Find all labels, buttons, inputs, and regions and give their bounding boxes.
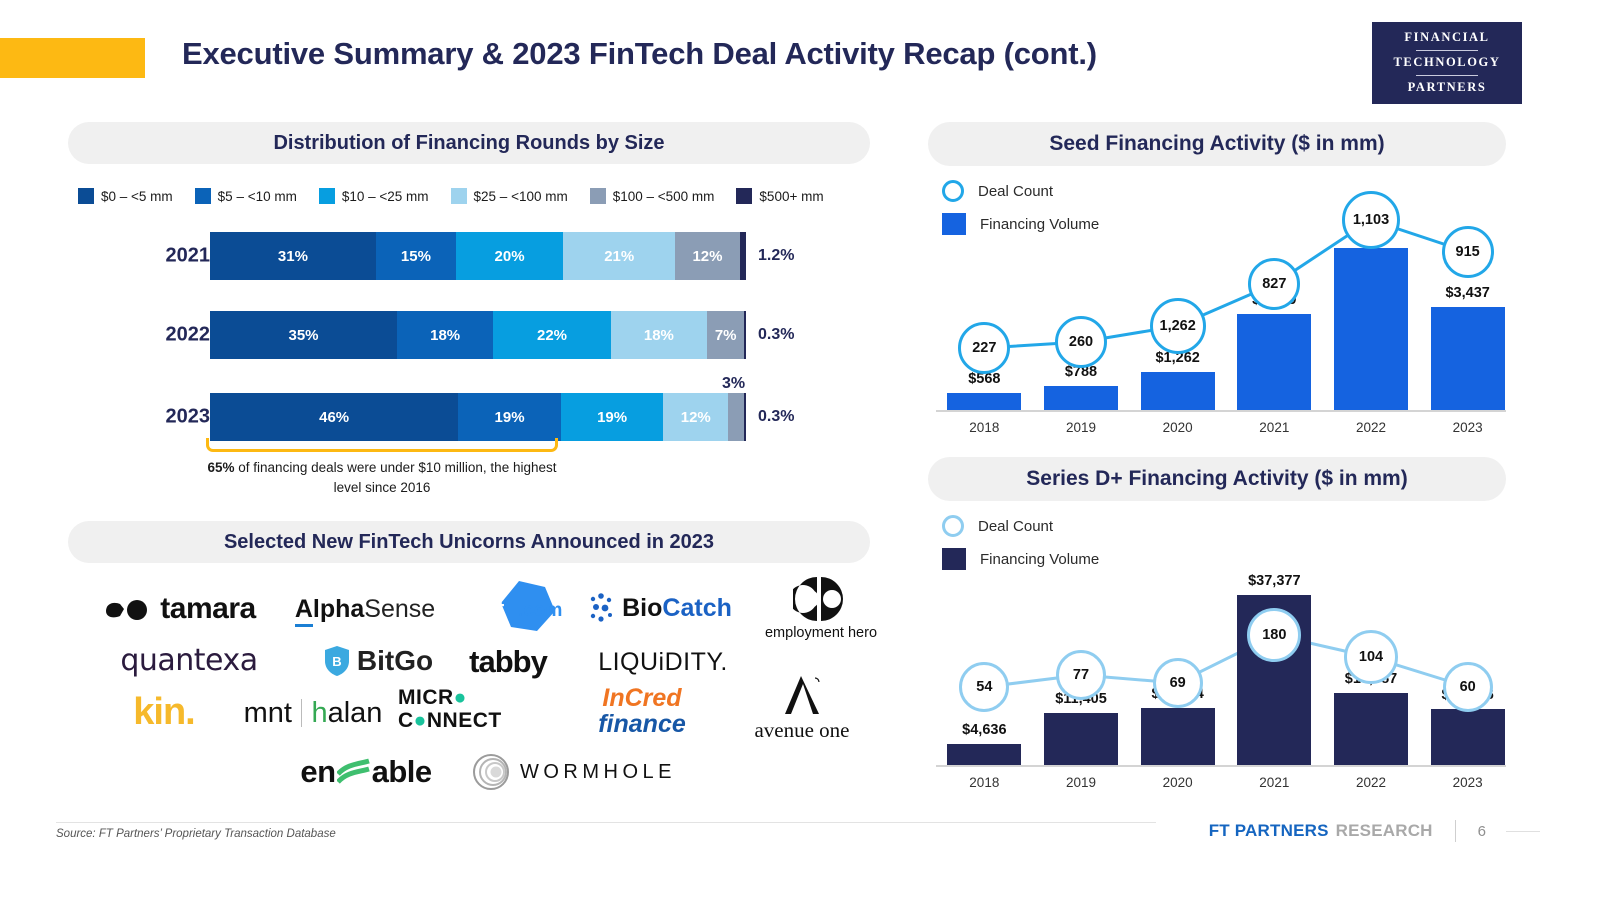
ft-partners-logo: FINANCIAL TECHNOLOGY PARTNERS xyxy=(1372,22,1522,104)
logo-tamara: tamara xyxy=(90,586,270,632)
deal-count-bubble: 77 xyxy=(1056,650,1106,700)
panel-header-seriesd: Series D+ Financing Activity ($ in mm) xyxy=(928,457,1506,501)
logo-halan-h: h xyxy=(311,697,327,730)
bar-row-year: 2021 xyxy=(148,245,210,268)
logo-micro-line2: C●NNECT xyxy=(398,710,502,733)
deal-count-bubble: 827 xyxy=(1248,258,1300,310)
logo-kin-label: kin. xyxy=(133,691,194,734)
bar-segment: 18% xyxy=(397,311,493,359)
source-note: Source: FT Partners’ Proprietary Transac… xyxy=(56,828,336,840)
seed-financing-chart: Deal CountFinancing Volume$5682018$78820… xyxy=(928,172,1518,442)
logo-line-3: PARTNERS xyxy=(1408,78,1487,97)
logo-biocatch-bio: Bio xyxy=(622,594,662,623)
tamara-mark-icon xyxy=(104,597,152,621)
bar-segment xyxy=(744,393,746,441)
bar-stack: 35%18%22%18%7% xyxy=(210,311,746,359)
chart-bar xyxy=(947,393,1021,410)
chart-bar xyxy=(1334,693,1408,765)
chart-bar xyxy=(1431,709,1505,765)
bar-segment-callout-label: 3% xyxy=(722,375,745,393)
logo-biocatch-catch: Catch xyxy=(662,594,731,623)
legend-label: $5 – <10 mm xyxy=(218,189,297,204)
svg-text:B: B xyxy=(332,654,341,669)
bar-segment: 22% xyxy=(493,311,611,359)
legend-item-4: $100 – <500 mm xyxy=(590,188,715,204)
legend-item-2: $10 – <25 mm xyxy=(319,188,429,204)
legend-item-3: $25 – <100 mm xyxy=(451,188,568,204)
x-axis-tick-label: 2022 xyxy=(1323,420,1420,435)
logo-enable-able: able xyxy=(372,754,432,790)
logo-wormhole: WORMHOLE xyxy=(464,750,684,794)
title-accent-block xyxy=(0,38,145,78)
logo-kin: kin. xyxy=(104,686,224,738)
bar-segment: 20% xyxy=(456,232,563,280)
chart-bar xyxy=(1431,307,1505,410)
logo-micro-line1: MICR● xyxy=(398,687,467,710)
x-axis-tick-label: 2020 xyxy=(1129,420,1226,435)
deal-count-bubble: 1,262 xyxy=(1150,298,1206,354)
logo-tabby-label: tabby xyxy=(469,644,547,680)
footer-dash xyxy=(1506,831,1540,832)
panel-header-unicorns: Selected New FinTech Unicorns Announced … xyxy=(68,521,870,563)
bar-value-label: $4,636 xyxy=(919,722,1049,738)
panel-header-distribution: Distribution of Financing Rounds by Size xyxy=(68,122,870,164)
footer-branding: FT PARTNERS RESEARCH 6 xyxy=(1209,820,1540,842)
x-axis-tick-label: 2023 xyxy=(1419,775,1516,790)
logo-avenue-one-label: avenue one xyxy=(754,718,849,743)
avenue-one-mark-icon xyxy=(781,674,823,716)
logo-enable: en able xyxy=(276,750,456,794)
x-axis-tick-label: 2019 xyxy=(1033,775,1130,790)
slide: Executive Summary & 2023 FinTech Deal Ac… xyxy=(0,0,1600,900)
logo-divider-1 xyxy=(1416,50,1478,52)
x-axis-tick-label: 2022 xyxy=(1323,775,1420,790)
biocatch-dots-icon xyxy=(588,593,618,623)
bitgo-shield-icon: B xyxy=(323,645,351,677)
chart-bar xyxy=(1237,314,1311,410)
legend-label: $10 – <25 mm xyxy=(342,189,429,204)
logo-incred-word: InCred xyxy=(602,685,681,711)
x-axis-tick-label: 2018 xyxy=(936,420,1033,435)
deal-count-bubble: 260 xyxy=(1055,316,1107,368)
logo-cart-word: cart xyxy=(464,596,504,622)
logo-quantexa-label: quantexa xyxy=(120,643,257,678)
logo-tabby: tabby xyxy=(448,640,568,684)
employment-hero-mark-icon xyxy=(793,577,849,621)
legend-label: $0 – <5 mm xyxy=(101,189,173,204)
logo-enable-en: en xyxy=(300,754,335,790)
bar-segment: 7% xyxy=(707,311,744,359)
bar-stack: 46%19%19%12% xyxy=(210,393,746,441)
bar-segment: 15% xyxy=(376,232,456,280)
bar-segment xyxy=(744,311,746,359)
x-axis-tick-label: 2020 xyxy=(1129,775,1226,790)
logo-alphasense-label: AlphaSense xyxy=(295,595,435,624)
deal-count-bubble: 1,103 xyxy=(1342,191,1400,249)
legend-swatch-icon xyxy=(736,188,752,204)
logo-incred-finance: InCred finance xyxy=(572,680,712,742)
bar-segment xyxy=(740,232,746,280)
logo-finance-word: finance xyxy=(598,711,686,737)
bar-segment: 19% xyxy=(561,393,664,441)
x-axis-tick-label: 2018 xyxy=(936,775,1033,790)
x-axis-tick-label: 2023 xyxy=(1419,420,1516,435)
panel-header-seed: Seed Financing Activity ($ in mm) xyxy=(928,122,1506,166)
legend-swatch-icon xyxy=(451,188,467,204)
bar-segment: 35% xyxy=(210,311,397,359)
legend-label: $500+ mm xyxy=(759,189,823,204)
bar-row-year: 2022 xyxy=(148,324,210,347)
logo-halan-rest: alan xyxy=(328,697,383,730)
logo-bitgo-label: BitGo xyxy=(357,645,433,677)
footer-separator xyxy=(1455,820,1456,842)
legend-swatch-icon xyxy=(195,188,211,204)
deal-count-bubble: 60 xyxy=(1443,662,1493,712)
bar-total-label: 0.3% xyxy=(758,326,794,344)
logo-avenue-one: avenue one xyxy=(712,670,892,746)
x-axis-tick-label: 2021 xyxy=(1226,775,1323,790)
logo-employment-hero: employment hero xyxy=(742,572,900,646)
deal-count-bubble: 915 xyxy=(1442,226,1494,278)
bar-stack: 31%15%20%21%12% xyxy=(210,232,746,280)
footer-brand: FT PARTNERS xyxy=(1209,821,1329,841)
bar-segment: 12% xyxy=(663,393,728,441)
logo-cart-tld: .com xyxy=(518,600,562,622)
legend-item-1: $5 – <10 mm xyxy=(195,188,297,204)
logo-mnt-halan-divider xyxy=(301,699,303,727)
legend-swatch-icon xyxy=(590,188,606,204)
chart-bar xyxy=(1334,248,1408,410)
annotation-bold: 65% xyxy=(208,460,235,475)
chart-bar xyxy=(1044,386,1118,410)
page-title: Executive Summary & 2023 FinTech Deal Ac… xyxy=(182,36,1312,72)
deal-count-bubble: 227 xyxy=(958,322,1010,374)
legend-label: $100 – <500 mm xyxy=(613,189,715,204)
logo-biocatch: BioCatch xyxy=(570,586,750,630)
chart-bar xyxy=(947,744,1021,765)
bar-segment: 18% xyxy=(611,311,707,359)
chart-bar xyxy=(1044,713,1118,765)
deal-count-bubble: 104 xyxy=(1344,630,1398,684)
page-number: 6 xyxy=(1478,823,1486,840)
chart-bar xyxy=(1141,372,1215,410)
logo-bitgo: B BitGo xyxy=(298,640,458,682)
enable-swoosh-icon xyxy=(337,758,371,786)
deal-count-bubble: 69 xyxy=(1153,658,1203,708)
unicorn-logo-grid: tamara AlphaSense cart .com BioCatch xyxy=(80,572,880,802)
logo-line-1: FINANCIAL xyxy=(1404,28,1489,47)
x-axis-tick-label: 2021 xyxy=(1226,420,1323,435)
legend-item-5: $500+ mm xyxy=(736,188,823,204)
chart-bar xyxy=(1141,708,1215,765)
legend-swatch-icon xyxy=(319,188,335,204)
annotation-text: 65% of financing deals were under $10 mi… xyxy=(206,458,558,497)
series-d-financing-chart: Deal CountFinancing Volume$4,6362018$11,… xyxy=(928,507,1518,792)
logo-liquidity-label: LIQUiDITY. xyxy=(598,648,728,677)
annotation-rest: of financing deals were under $10 millio… xyxy=(235,460,557,495)
logo-tamara-label: tamara xyxy=(160,592,255,626)
annotation-bracket xyxy=(206,438,558,452)
wormhole-mark-icon xyxy=(472,753,510,791)
bar-segment: 46% xyxy=(210,393,458,441)
bar-value-label: $37,377 xyxy=(1209,573,1339,589)
footer-divider xyxy=(56,822,1156,823)
bar-segment: 19% xyxy=(458,393,561,441)
x-axis-tick-label: 2019 xyxy=(1033,420,1130,435)
logo-mnt-halan: mnt halan xyxy=(208,690,418,736)
legend-item-0: $0 – <5 mm xyxy=(78,188,173,204)
bar-total-label: 0.3% xyxy=(758,408,794,426)
legend-swatch-icon xyxy=(78,188,94,204)
stacked-bar-row: 202346%19%19%12%0.3% xyxy=(0,393,870,441)
stacked-bar-row: 202131%15%20%21%12%1.2% xyxy=(0,232,870,280)
logo-employment-hero-label: employment hero xyxy=(765,625,877,641)
logo-divider-2 xyxy=(1416,75,1478,77)
bar-row-year: 2023 xyxy=(148,406,210,429)
bar-segment: 31% xyxy=(210,232,376,280)
stacked-bar-row: 202235%18%22%18%7%0.3% xyxy=(0,311,870,359)
legend-label: $25 – <100 mm xyxy=(474,189,568,204)
bar-value-label: $3,437 xyxy=(1403,285,1533,301)
logo-wormhole-label: WORMHOLE xyxy=(520,761,676,784)
logo-micro-connect: MICR● C●NNECT xyxy=(398,680,558,740)
logo-line-2: TECHNOLOGY xyxy=(1394,53,1501,72)
bar-total-label: 1.2% xyxy=(758,247,794,265)
bar-segment xyxy=(728,393,744,441)
footer-research: RESEARCH xyxy=(1336,821,1433,841)
deal-count-bubble: 54 xyxy=(959,662,1009,712)
bar-segment: 21% xyxy=(563,232,675,280)
logo-mnt-word: mnt xyxy=(244,697,292,730)
deal-count-bubble: 180 xyxy=(1247,608,1301,662)
bar-segment: 12% xyxy=(675,232,739,280)
distribution-legend: $0 – <5 mm$5 – <10 mm$10 – <25 mm$25 – <… xyxy=(78,188,846,204)
logo-quantexa: quantexa xyxy=(94,638,284,682)
logo-alphasense: AlphaSense xyxy=(280,588,450,630)
